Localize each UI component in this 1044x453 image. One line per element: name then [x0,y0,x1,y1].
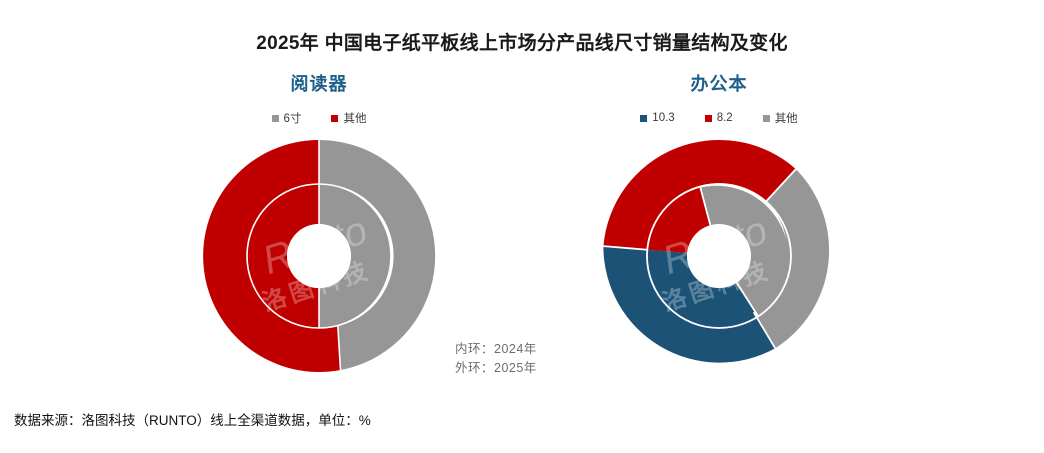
donut-svg-wrap-office: Runto 洛图科技 [599,136,839,376]
chart-title-office: 办公本 [484,70,954,96]
legend-item[interactable]: 其他 [331,110,366,126]
legend-label: 其他 [775,110,798,126]
legend-label: 8.2 [717,112,733,124]
legend-swatch-blue [640,115,647,122]
source-note: 数据来源：洛图科技（RUNTO）线上全渠道数据，单位：% [14,409,371,429]
chart-page: 2025年 中国电子纸平板线上市场分产品线尺寸销量结构及变化 阅读器 6寸 其他 [0,0,1044,453]
legend-swatch-gray [272,115,279,122]
legend-item[interactable]: 6寸 [272,110,302,126]
legend-office: 10.3 8.2 其他 [484,110,954,126]
ring-legend-note: 内环：2024年 外环：2025年 [455,340,537,378]
legend-swatch-gray [763,115,770,122]
ring-note-inner: 内环：2024年 [455,340,537,359]
donut-svg-reader: Runto 洛图科技 [199,136,439,376]
legend-label: 10.3 [652,112,674,124]
ring-note-outer: 外环：2025年 [455,359,537,378]
chart-panel-office: 办公本 10.3 8.2 其他 [484,70,954,386]
legend-item[interactable]: 8.2 [705,112,733,124]
legend-label: 6寸 [284,110,302,126]
legend-item[interactable]: 10.3 [640,112,674,124]
legend-swatch-red [705,115,712,122]
page-title: 2025年 中国电子纸平板线上市场分产品线尺寸销量结构及变化 [0,28,1044,55]
legend-item[interactable]: 其他 [763,110,798,126]
donut-hole-reader [287,224,351,288]
donut-hole-office [687,224,751,288]
legend-swatch-red [331,115,338,122]
legend-label: 其他 [343,110,366,126]
donut-svg-office: Runto 洛图科技 [599,136,839,376]
donut-svg-wrap-reader: Runto 洛图科技 [199,136,439,376]
donut-chart-office: Runto 洛图科技 [484,136,954,386]
